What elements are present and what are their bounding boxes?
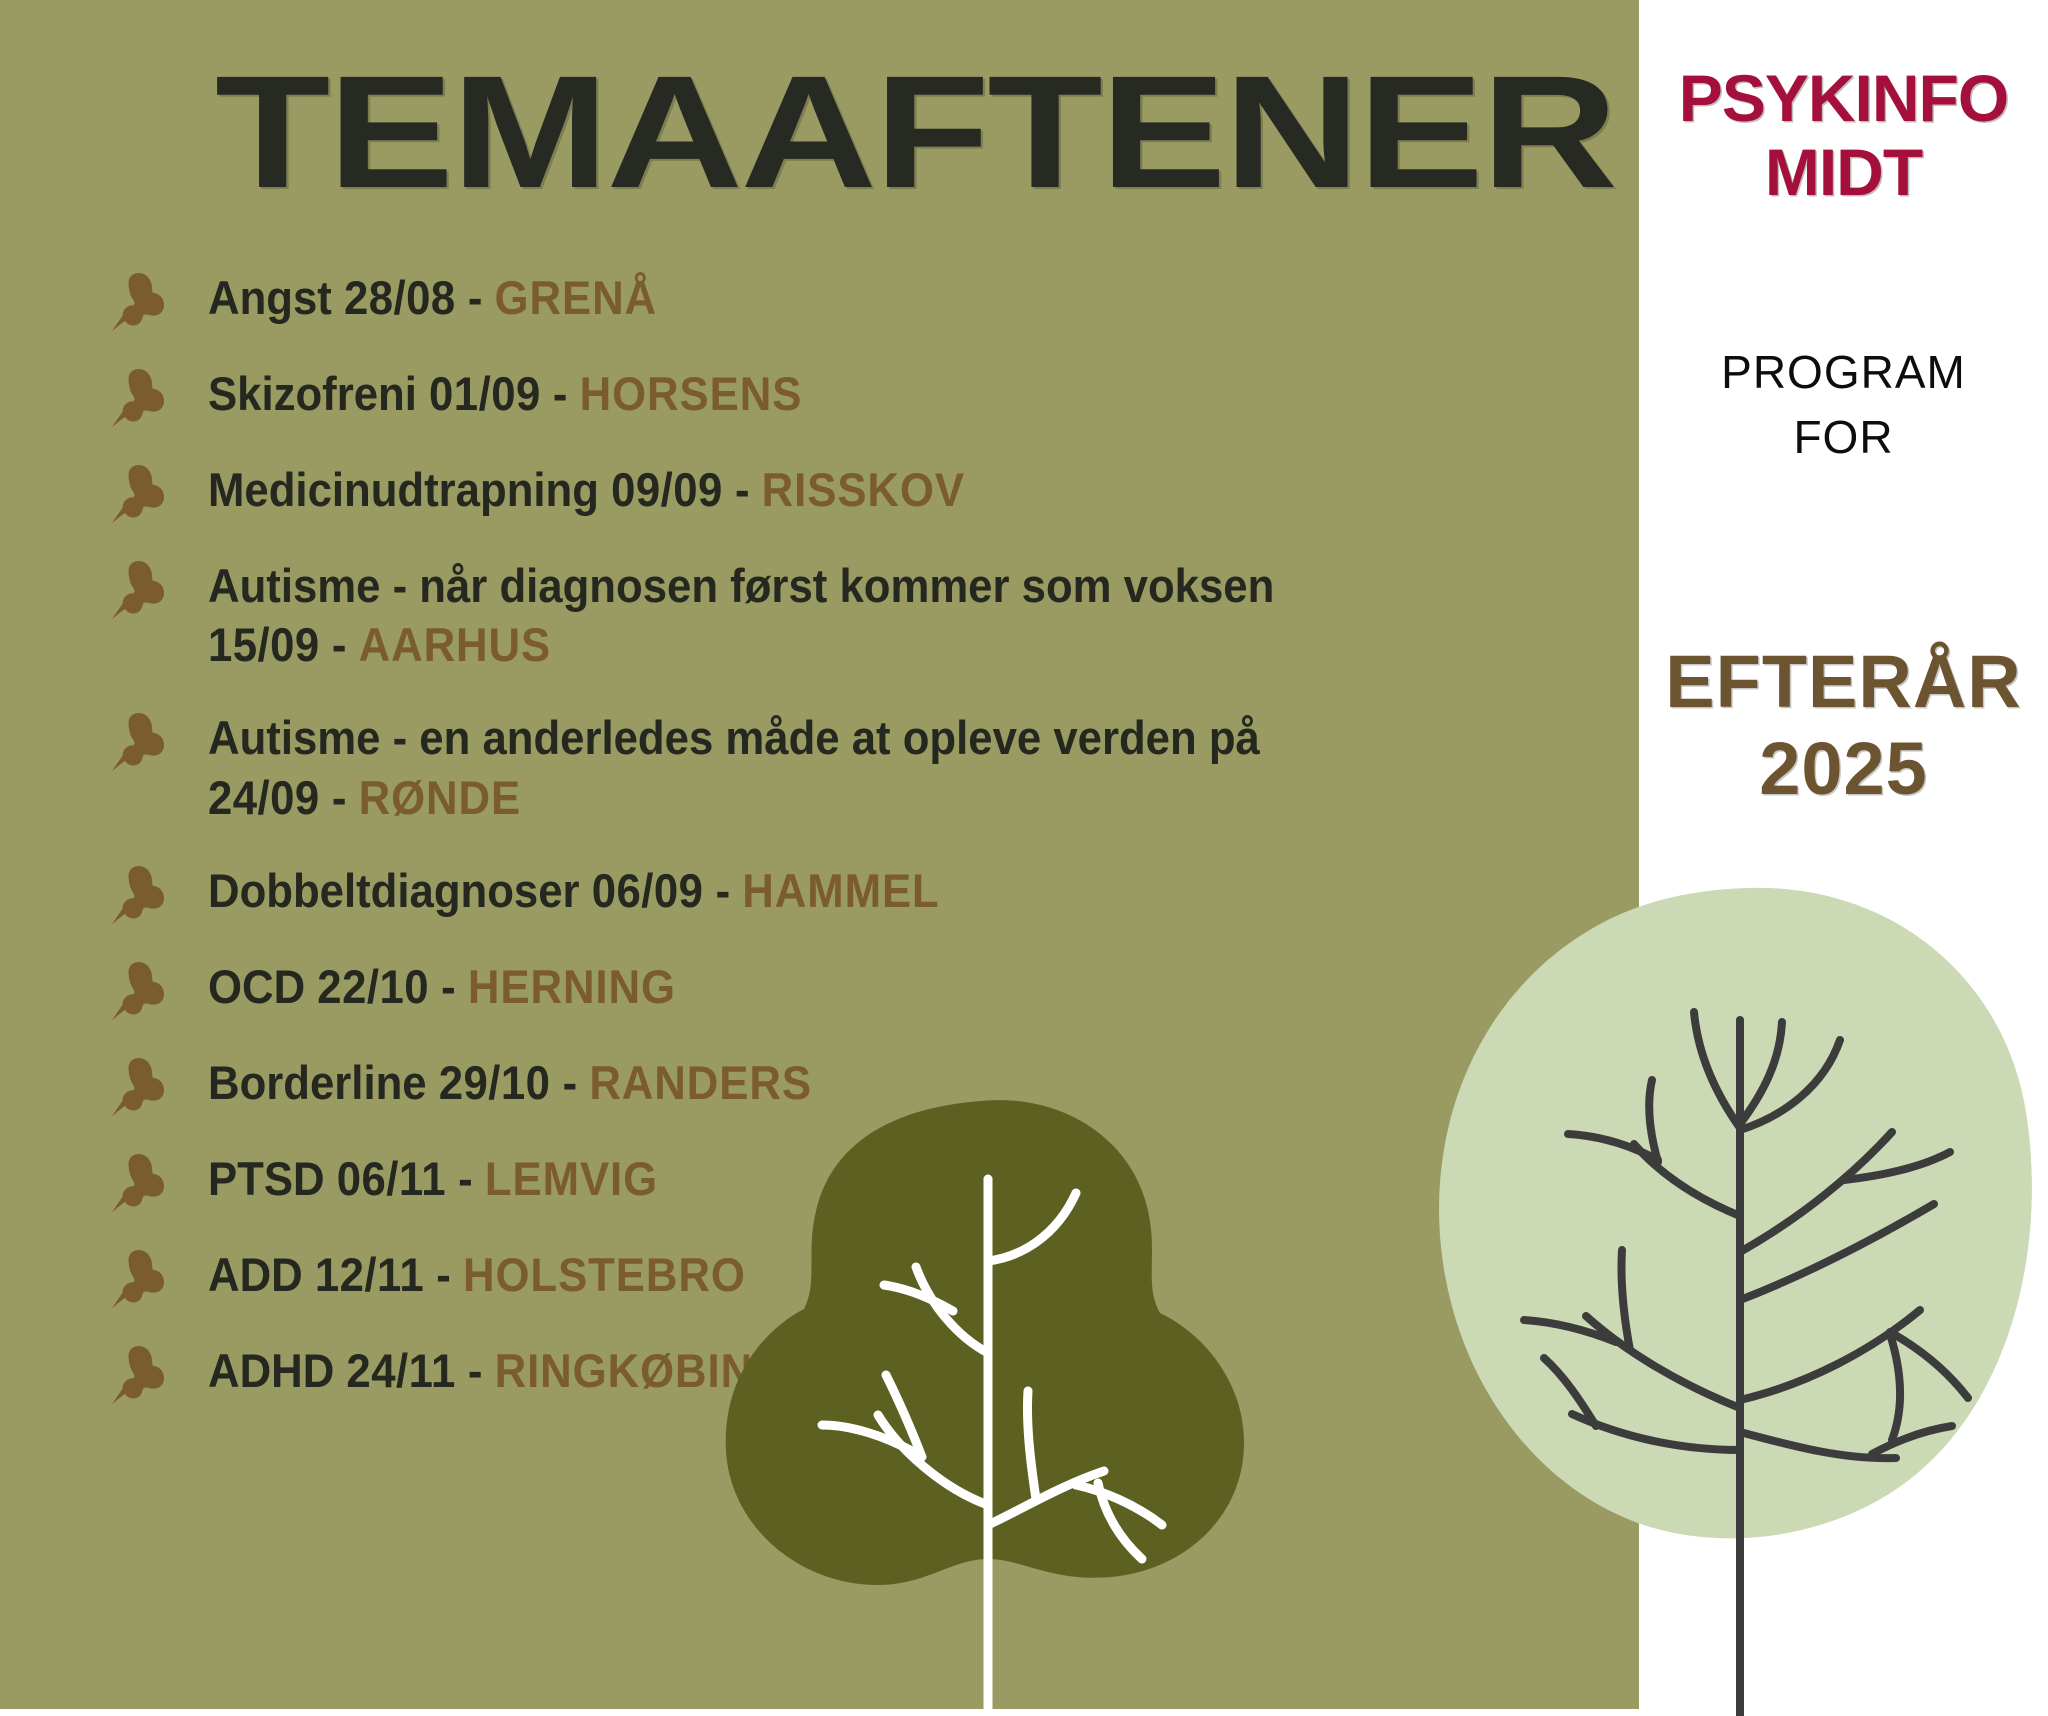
pin-wrap [110,1245,208,1311]
event-topic: ADD [208,1248,303,1301]
event-city: LEMVIG [485,1152,658,1205]
event-separator: - [458,1152,473,1205]
event-topic: Medicinudtrapning [208,463,599,516]
pushpin-icon [110,712,166,774]
event-separator: - [553,367,568,420]
event-row[interactable]: OCD 22/10 - HERNING [110,957,1570,1023]
event-city: HERNING [468,960,676,1013]
event-separator: - [441,960,456,1013]
olive-background-panel: TEMAAFTENER Angst 28/08 - GRENÅSkizofren… [0,0,1639,1709]
event-row[interactable]: ADD 12/11 - HOLSTEBRO [110,1245,1570,1311]
pin-wrap [110,1053,208,1119]
event-row[interactable]: Skizofreni 01/09 - HORSENS [110,364,1570,430]
event-text: Dobbeltdiagnoser 06/09 - HAMMEL [208,861,1475,920]
pin-wrap [110,861,208,927]
pin-wrap [110,708,208,774]
event-date: 29/10 [439,1056,551,1109]
event-separator: - [468,1344,483,1397]
event-date: 01/09 [429,367,541,420]
event-topic: PTSD [208,1152,325,1205]
event-topic: Autisme - når diagnosen først kommer som… [208,559,1274,612]
event-date: 09/09 [611,463,723,516]
pushpin-icon [110,865,166,927]
pushpin-icon [110,1153,166,1215]
right-white-column: PSYKINFO MIDT PROGRAM FOR EFTERÅR 2025 [1639,0,2048,1716]
event-text: Autisme - når diagnosen først kommer som… [208,556,1475,674]
brand-line-midt: MIDT [1639,136,2048,210]
pin-wrap [110,957,208,1023]
event-text: Medicinudtrapning 09/09 - RISSKOV [208,460,1475,519]
event-topic: Borderline [208,1056,427,1109]
event-topic: Autisme - en anderledes måde at opleve v… [208,711,1260,764]
event-text: Skizofreni 01/09 - HORSENS [208,364,1475,423]
pushpin-icon [110,1249,166,1311]
pushpin-icon [110,1057,166,1119]
event-separator: - [436,1248,451,1301]
pin-wrap [110,1149,208,1215]
season-line-year: 2025 [1639,725,2048,812]
season-heading: EFTERÅR 2025 [1639,638,2048,813]
event-city: RINGKØBING [495,1344,788,1397]
page-title: TEMAAFTENER [215,52,1615,212]
event-row[interactable]: Angst 28/08 - GRENÅ [110,268,1570,334]
event-topic: OCD [208,960,305,1013]
event-date: 24/11 [346,1344,455,1397]
pin-wrap [110,460,208,526]
brand-line-psykinfo: PSYKINFO [1639,62,2048,136]
pushpin-icon [110,368,166,430]
event-date: 24/09 [208,771,320,824]
pushpin-icon [110,961,166,1023]
event-date: 28/08 [344,271,456,324]
event-topic: Skizofreni [208,367,417,420]
event-row[interactable]: Borderline 29/10 - RANDERS [110,1053,1570,1119]
event-separator: - [716,864,731,917]
event-city: RANDERS [589,1056,812,1109]
event-row[interactable]: PTSD 06/11 - LEMVIG [110,1149,1570,1215]
event-topic: ADHD [208,1344,334,1397]
event-date: 06/11 [337,1152,446,1205]
subhead-line-program: PROGRAM [1639,340,2048,405]
brand-logo: PSYKINFO MIDT [1639,62,2048,210]
event-city: RØNDE [359,771,522,824]
pushpin-icon [110,464,166,526]
event-topic: Angst [208,271,332,324]
event-row[interactable]: Autisme - en anderledes måde at opleve v… [110,708,1570,826]
event-text: OCD 22/10 - HERNING [208,957,1475,1016]
pushpin-icon [110,560,166,622]
pin-wrap [110,556,208,622]
event-city: HORSENS [580,367,803,420]
event-row[interactable]: ADHD 24/11 - RINGKØBING [110,1341,1570,1407]
pin-wrap [110,364,208,430]
event-text: Autisme - en anderledes måde at opleve v… [208,708,1475,826]
event-row[interactable]: Medicinudtrapning 09/09 - RISSKOV [110,460,1570,526]
program-subheading: PROGRAM FOR [1639,340,2048,471]
event-text: Angst 28/08 - GRENÅ [208,268,1475,327]
event-separator: - [332,618,347,671]
event-text: PTSD 06/11 - LEMVIG [208,1149,1475,1208]
event-city: RISSKOV [762,463,965,516]
pushpin-icon [110,272,166,334]
pin-wrap [110,268,208,334]
event-text: ADHD 24/11 - RINGKØBING [208,1341,1475,1400]
event-row[interactable]: Autisme - når diagnosen først kommer som… [110,556,1570,674]
event-city: HOLSTEBRO [463,1248,746,1301]
event-text: Borderline 29/10 - RANDERS [208,1053,1475,1112]
event-date: 22/10 [317,960,429,1013]
event-date: 06/09 [592,864,704,917]
pin-wrap [110,1341,208,1407]
season-line-efteraar: EFTERÅR [1639,638,2048,725]
event-separator: - [332,771,347,824]
event-date: 12/11 [315,1248,424,1301]
event-city: HAMMEL [742,864,939,917]
event-city: AARHUS [359,618,552,671]
event-topic: Dobbeltdiagnoser [208,864,580,917]
event-list: Angst 28/08 - GRENÅSkizofreni 01/09 - HO… [110,268,1570,1437]
event-row[interactable]: Dobbeltdiagnoser 06/09 - HAMMEL [110,861,1570,927]
event-separator: - [735,463,750,516]
subhead-line-for: FOR [1639,405,2048,470]
event-separator: - [563,1056,578,1109]
pushpin-icon [110,1345,166,1407]
event-text: ADD 12/11 - HOLSTEBRO [208,1245,1475,1304]
event-separator: - [468,271,483,324]
event-date: 15/09 [208,618,320,671]
poster-canvas: TEMAAFTENER Angst 28/08 - GRENÅSkizofren… [0,0,2048,1716]
event-city: GRENÅ [495,271,658,324]
